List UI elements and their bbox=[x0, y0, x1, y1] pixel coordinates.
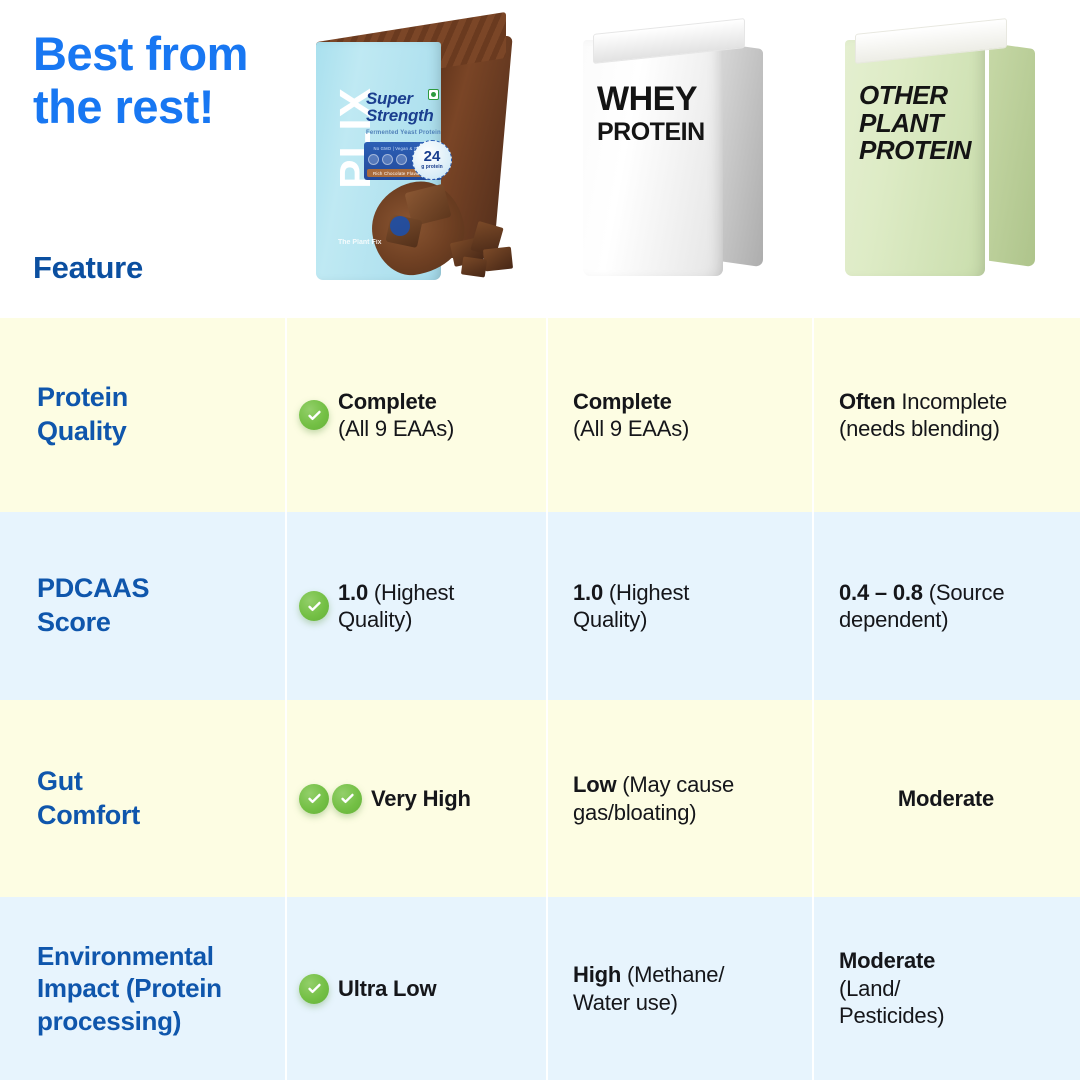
plix-value-cell: 1.0 (Highest Quality) bbox=[285, 512, 546, 700]
table-row: Protein Quality Complete (All 9 EAAs) Co… bbox=[0, 318, 1080, 512]
protein-amount-unit: g protein bbox=[421, 164, 442, 170]
header: Best from the rest! Feature PLIX Super S… bbox=[0, 0, 1080, 318]
other-plant-label-line-1: OTHER bbox=[859, 82, 979, 110]
plix-pack-front: PLIX Super Strength Fermented Yeast Prot… bbox=[316, 42, 441, 280]
plix-tagline: The Plant Fix bbox=[338, 239, 382, 246]
table-row: Environmental Impact (Protein processing… bbox=[0, 897, 1080, 1080]
headline-line-2: the rest! bbox=[33, 81, 333, 134]
feature-name: Environmental Impact (Protein processing… bbox=[37, 940, 271, 1038]
whey-value-bold: Low bbox=[573, 772, 616, 797]
feature-cell: Environmental Impact (Protein processing… bbox=[0, 897, 285, 1080]
whey-pack-side bbox=[717, 43, 763, 267]
comparison-infographic: Best from the rest! Feature PLIX Super S… bbox=[0, 0, 1080, 1080]
other-value-rest: (Land/ Pesticides) bbox=[839, 976, 944, 1029]
protein-amount-badge: 24 g protein bbox=[412, 140, 452, 180]
whey-value-bold: High bbox=[573, 962, 621, 987]
whey-value-rest: (All 9 EAAs) bbox=[573, 416, 689, 441]
plix-value-cell: Very High bbox=[285, 700, 546, 897]
plix-seal-icon bbox=[390, 216, 410, 236]
other-plant-value-cell: Moderate (Land/ Pesticides) bbox=[812, 897, 1080, 1080]
other-value-bold: Moderate bbox=[839, 948, 935, 973]
other-plant-pack-side bbox=[989, 43, 1035, 267]
whey-value-cell: 1.0 (Highest Quality) bbox=[546, 512, 812, 700]
other-plant-label-line-2: PLANT bbox=[859, 110, 979, 138]
whey-label-line-1: WHEY bbox=[597, 80, 697, 118]
product-pack-other-plant: OTHER PLANT PROTEIN bbox=[845, 20, 1035, 290]
table-row: Gut Comfort Very High Low (May c bbox=[0, 700, 1080, 897]
protein-amount-value: 24 bbox=[424, 150, 441, 164]
other-plant-label-line-3: PROTEIN bbox=[859, 137, 979, 165]
comparison-table: Protein Quality Complete (All 9 EAAs) Co… bbox=[0, 318, 1080, 1080]
check-icon bbox=[332, 784, 362, 814]
plix-value-bold: Complete bbox=[338, 389, 437, 414]
whey-value-bold: 1.0 bbox=[573, 580, 603, 605]
other-value-bold: 0.4 – 0.8 bbox=[839, 580, 923, 605]
plix-value-rest: (All 9 EAAs) bbox=[338, 416, 454, 441]
whey-value-cell: High (Methane/ Water use) bbox=[546, 897, 812, 1080]
other-plant-value-cell: Often Incomplete (needs blending) bbox=[812, 318, 1080, 512]
check-icon bbox=[299, 400, 329, 430]
feature-cell: Gut Comfort bbox=[0, 700, 285, 897]
veg-mark-icon bbox=[428, 89, 439, 100]
other-plant-value-cell: Moderate bbox=[812, 700, 1080, 897]
whey-value-cell: Complete (All 9 EAAs) bbox=[546, 318, 812, 512]
whey-value-cell: Low (May cause gas/bloating) bbox=[546, 700, 812, 897]
feature-cell: PDCAAS Score bbox=[0, 512, 285, 700]
check-badges bbox=[299, 974, 329, 1004]
check-icon bbox=[299, 974, 329, 1004]
other-plant-pack-label: OTHER PLANT PROTEIN bbox=[859, 82, 979, 165]
headline-line-1: Best from bbox=[33, 27, 248, 80]
other-plant-value-cell: 0.4 – 0.8 (Source dependent) bbox=[812, 512, 1080, 700]
plix-value-bold: Ultra Low bbox=[338, 976, 436, 1001]
check-badges bbox=[299, 400, 329, 430]
other-value-bold: Moderate bbox=[898, 786, 994, 811]
plix-value-bold: Very High bbox=[371, 786, 471, 811]
feature-name: PDCAAS Score bbox=[37, 572, 149, 640]
other-value-bold: Often bbox=[839, 389, 895, 414]
whey-pack-front bbox=[583, 40, 723, 276]
plix-product-subtitle: Fermented Yeast Protein bbox=[366, 130, 441, 136]
plix-value-cell: Ultra Low bbox=[285, 897, 546, 1080]
table-row: PDCAAS Score 1.0 (Highest Quality) 1.0 (… bbox=[0, 512, 1080, 700]
check-icon bbox=[299, 784, 329, 814]
whey-value-bold: Complete bbox=[573, 389, 672, 414]
whey-label-line-2: PROTEIN bbox=[597, 120, 717, 145]
feature-column-header: Feature bbox=[33, 250, 143, 286]
product-pack-plix: PLIX Super Strength Fermented Yeast Prot… bbox=[300, 22, 545, 292]
plix-value-bold: 1.0 bbox=[338, 580, 368, 605]
product-pack-whey: WHEY PROTEIN bbox=[583, 20, 763, 290]
feature-name: Protein Quality bbox=[37, 381, 128, 449]
chocolate-chunks-graphic bbox=[452, 222, 514, 280]
page-title: Best from the rest! bbox=[33, 28, 333, 133]
plix-claim-icons bbox=[368, 154, 407, 165]
plix-value-cell: Complete (All 9 EAAs) bbox=[285, 318, 546, 512]
feature-name: Gut Comfort bbox=[37, 765, 140, 833]
whey-pack-label: WHEY PROTEIN bbox=[597, 82, 717, 145]
feature-cell: Protein Quality bbox=[0, 318, 285, 512]
check-icon bbox=[299, 591, 329, 621]
plix-product-title: Super Strength bbox=[366, 90, 433, 124]
check-badges bbox=[299, 784, 362, 814]
check-badges bbox=[299, 591, 329, 621]
